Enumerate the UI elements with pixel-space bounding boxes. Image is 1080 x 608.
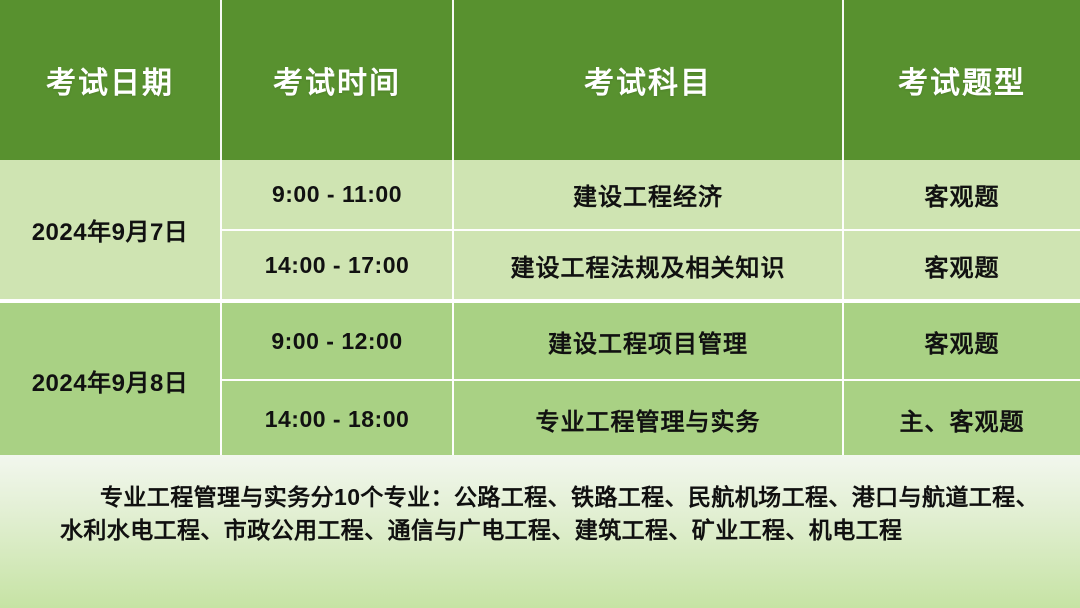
- exam-type-cell: 客观题: [843, 160, 1080, 230]
- exam-time-cell: 9:00 - 12:00: [221, 303, 453, 380]
- column-header-exam-date: 考试日期: [0, 0, 221, 160]
- exam-time-cell: 9:00 - 11:00: [221, 160, 453, 230]
- exam-subject-cell: 建设工程法规及相关知识: [453, 230, 843, 300]
- exam-subject-cell: 建设工程经济: [453, 160, 843, 230]
- table-row: 2024年9月7日 9:00 - 11:00 建设工程经济 客观题: [0, 160, 1080, 230]
- exam-type-cell: 主、客观题: [843, 380, 1080, 459]
- table-row: 2024年9月8日 9:00 - 12:00 建设工程项目管理 客观题: [0, 303, 1080, 380]
- exam-date-cell: 2024年9月8日: [0, 303, 221, 459]
- exam-time-cell: 14:00 - 17:00: [221, 230, 453, 300]
- footnote-text: 专业工程管理与实务分10个专业：公路工程、铁路工程、民航机场工程、港口与航道工程…: [60, 481, 1044, 546]
- exam-date-cell: 2024年9月7日: [0, 160, 221, 300]
- exam-subject-cell: 专业工程管理与实务: [453, 380, 843, 459]
- column-header-exam-time: 考试时间: [221, 0, 453, 160]
- exam-time-cell: 14:00 - 18:00: [221, 380, 453, 459]
- exam-type-cell: 客观题: [843, 230, 1080, 300]
- column-header-exam-question: 考试题型: [843, 0, 1080, 160]
- exam-schedule-table: 考试日期 考试时间 考试科目 考试题型 2024年9月7日 9:00 - 11:…: [0, 0, 1080, 460]
- exam-type-cell: 客观题: [843, 303, 1080, 380]
- exam-subject-cell: 建设工程项目管理: [453, 303, 843, 380]
- footnote-panel: 专业工程管理与实务分10个专业：公路工程、铁路工程、民航机场工程、港口与航道工程…: [0, 455, 1080, 608]
- column-header-exam-subject: 考试科目: [453, 0, 843, 160]
- screenshot-root: SPTA 力考试院 SPTA 力考试院 SPTA 力考试院 SPTA 力考试院 …: [0, 0, 1080, 608]
- table-header-row: 考试日期 考试时间 考试科目 考试题型: [0, 0, 1080, 160]
